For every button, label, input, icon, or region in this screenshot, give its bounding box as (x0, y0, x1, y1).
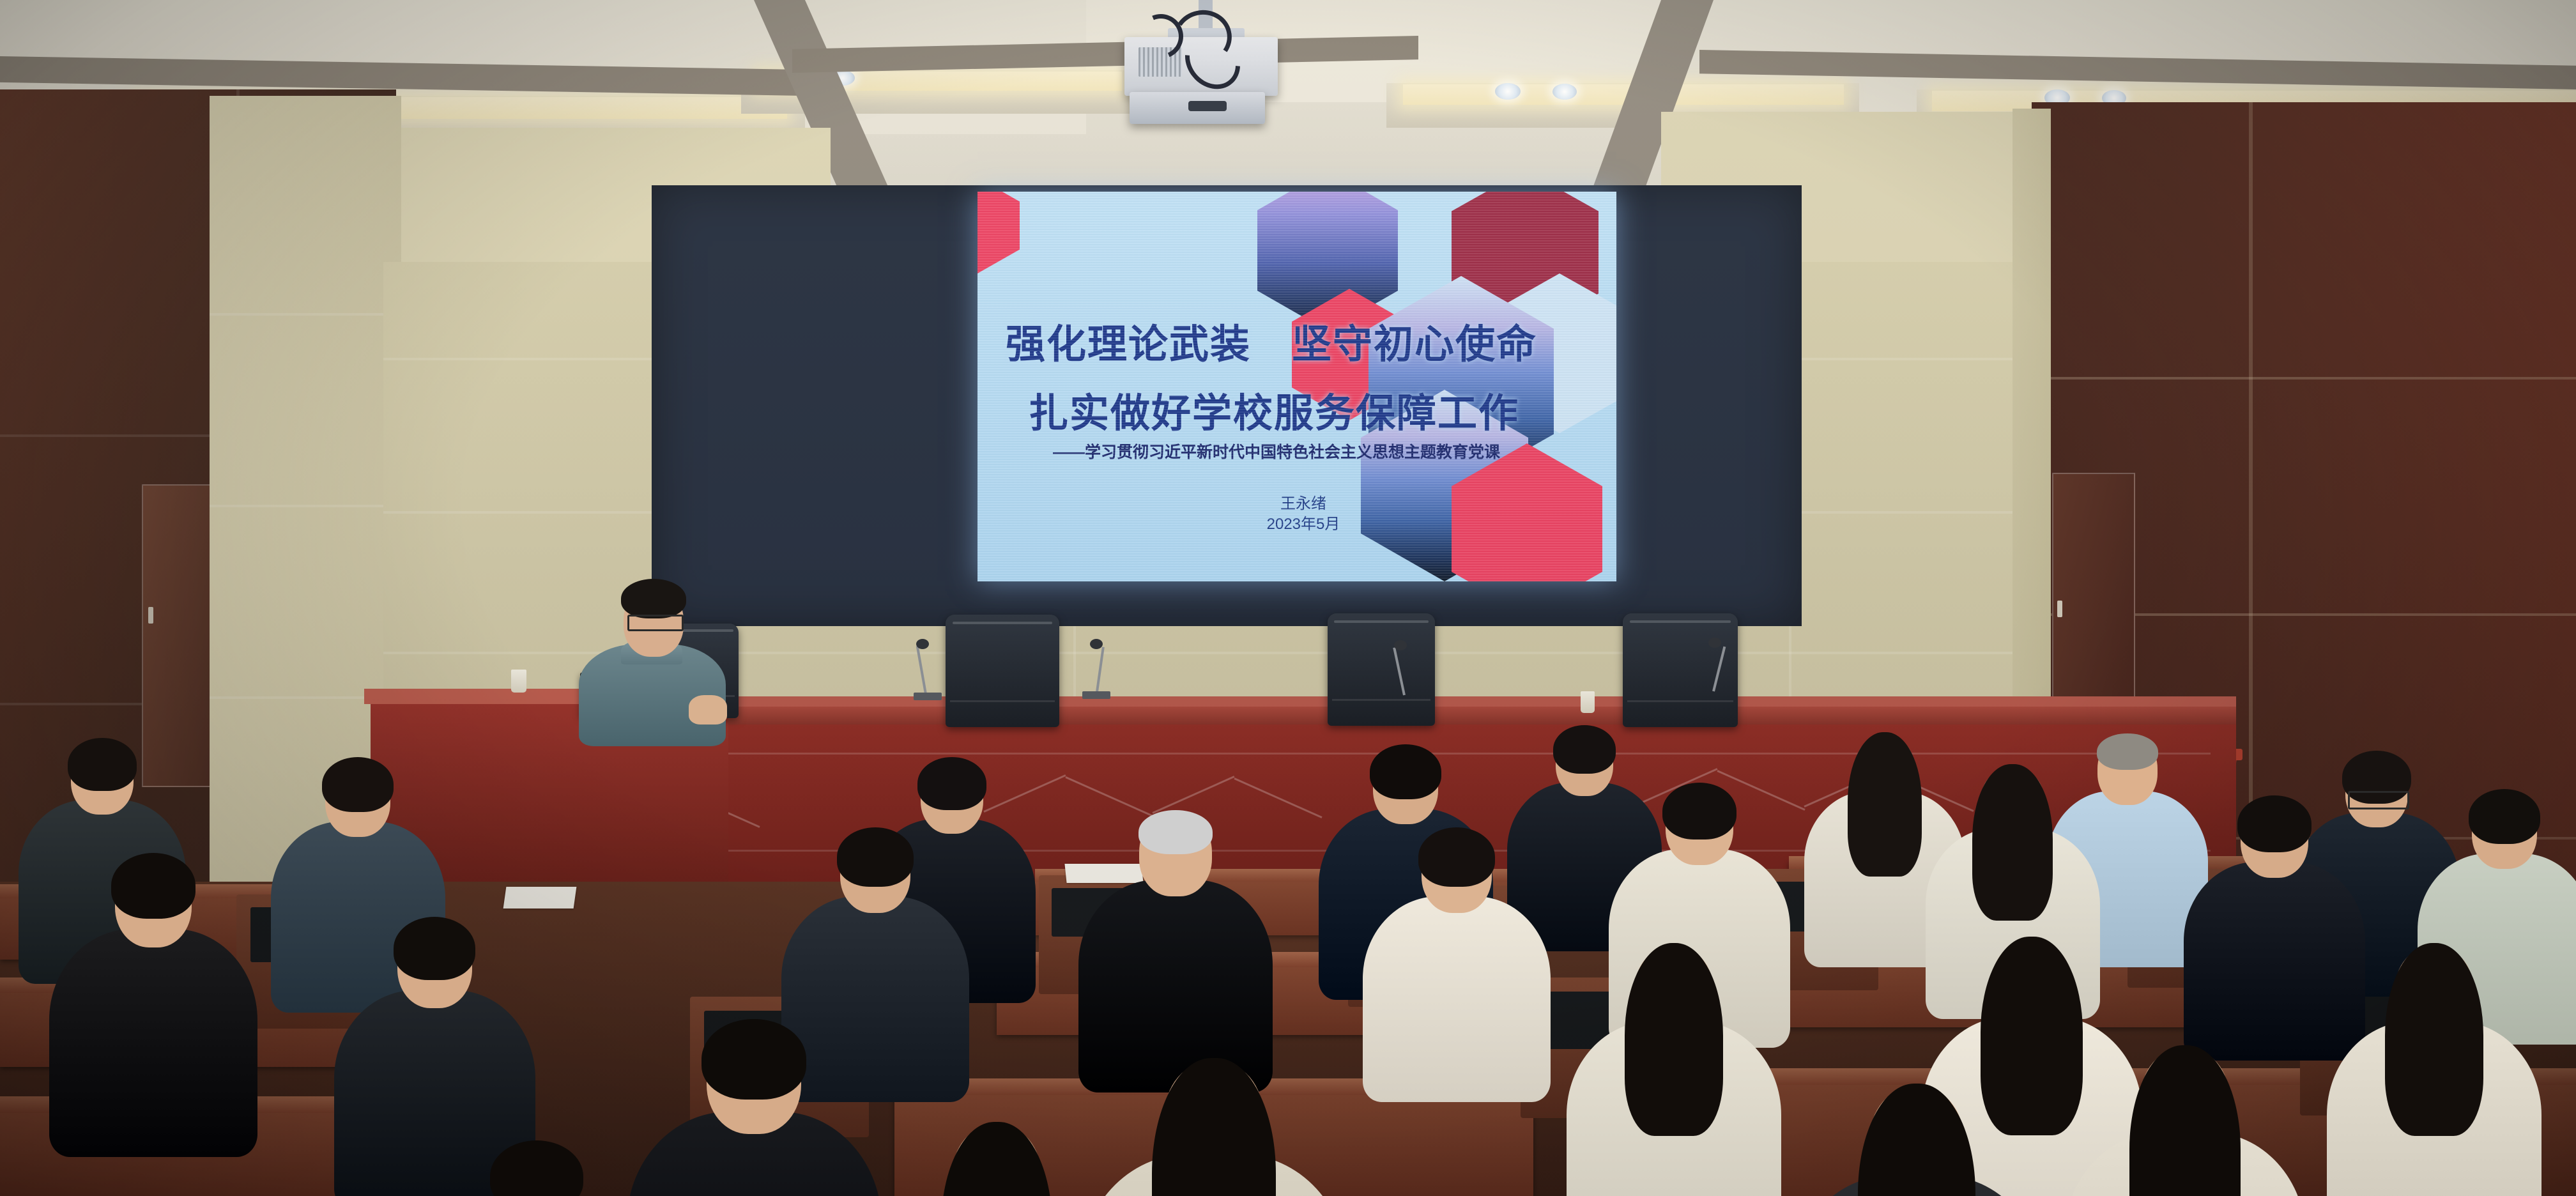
audience-person (627, 1022, 882, 1196)
audience-person-hair (2237, 795, 2311, 852)
projector-lens (1188, 101, 1227, 111)
notepad-1[interactable] (503, 887, 577, 908)
stage-microphone-head-4 (1708, 638, 1721, 648)
stage-chair-3[interactable] (1623, 613, 1738, 727)
audience-person-hair (111, 853, 196, 919)
audience-person-hair (941, 1122, 1052, 1196)
slide-presenter-name: 王永绪 (1252, 491, 1354, 513)
audience-person (49, 856, 257, 1175)
wall-beige-left-line1 (210, 313, 401, 316)
downlight-5 (1552, 84, 1577, 100)
paper-cup-center[interactable] (1581, 691, 1595, 713)
stage-microphone-head-2 (1090, 639, 1103, 649)
audience-person-hair (837, 827, 914, 887)
wall-beige-left-line2 (210, 505, 401, 507)
stage-microphone-base-1 (914, 693, 942, 700)
audience-person-hair (68, 738, 136, 791)
speaker-hair (621, 579, 686, 618)
audience-person-hair (1152, 1058, 1275, 1196)
stage-microphone-head-3 (1394, 640, 1407, 650)
slide-title-line1: 强化理论武装 坚守初心使命 (1006, 312, 1537, 369)
audience-person-hair (394, 917, 476, 980)
audience-person-hair (1972, 764, 2053, 921)
wall-right-seam-h1 (2032, 377, 2576, 379)
stage-microphone-head-1 (916, 639, 929, 649)
audience-person-torso (1363, 896, 1551, 1102)
audience-person (423, 1144, 651, 1196)
audience-person (1567, 946, 1781, 1196)
audience-person-hair (2129, 1045, 2241, 1196)
audience-person-hair (1553, 725, 1616, 774)
speaker-hand (689, 695, 727, 724)
audience-person-hair (2469, 789, 2540, 844)
lecture-hall-photo: 强化理论武装 坚守初心使命 扎实做好学校服务保障工作 ——学习贯彻习近平新时代中… (0, 0, 2576, 1196)
audience-person-hair (1848, 732, 1922, 877)
audience-person (1080, 1061, 1348, 1196)
door-left-handle[interactable] (148, 607, 153, 624)
audience-person-hair (917, 757, 986, 810)
audience-person (2327, 946, 2541, 1196)
downlight-4 (1495, 83, 1521, 100)
stage-chair-1[interactable] (946, 615, 1059, 727)
audience-person-hair (2097, 733, 2158, 770)
speaker-figure (575, 575, 767, 741)
stage-chair-2[interactable] (1328, 613, 1435, 726)
audience-person (2064, 1048, 2306, 1196)
audience-person (1363, 831, 1551, 1119)
audience-person-hair (1858, 1084, 1975, 1196)
audience-person-hair (1418, 827, 1495, 887)
slide-presentation-date: 2023年5月 (1252, 511, 1354, 533)
audience-person-hair (1138, 810, 1212, 854)
audience-person (876, 1124, 1117, 1196)
audience-person-hair (1625, 943, 1724, 1136)
audience-person-hair (490, 1140, 583, 1196)
audience-person-hair (701, 1019, 806, 1100)
slide-subtitle: ——学习贯彻习近平新时代中国特色社会主义思想主题教育党课 (1053, 440, 1500, 463)
audience-person-hair (2385, 943, 2484, 1136)
paper-cup-left[interactable] (511, 670, 526, 693)
speaker-glasses (627, 615, 684, 631)
audience-person-hair (322, 757, 394, 812)
audience-person-hair (1370, 744, 1441, 799)
audience-person-hair (1662, 783, 1736, 839)
audience-person (1790, 1086, 2044, 1196)
slide-hex-crimson-topleft (977, 192, 1020, 273)
stage-microphone-base-2 (1082, 691, 1110, 699)
door-right-handle[interactable] (2057, 601, 2062, 617)
slide-title-line2: 扎实做好学校服务保障工作 (1029, 381, 1519, 438)
audience-person-torso (49, 929, 257, 1157)
presentation-slide: 强化理论武装 坚守初心使命 扎实做好学校服务保障工作 ——学习贯彻习近平新时代中… (977, 192, 1616, 581)
